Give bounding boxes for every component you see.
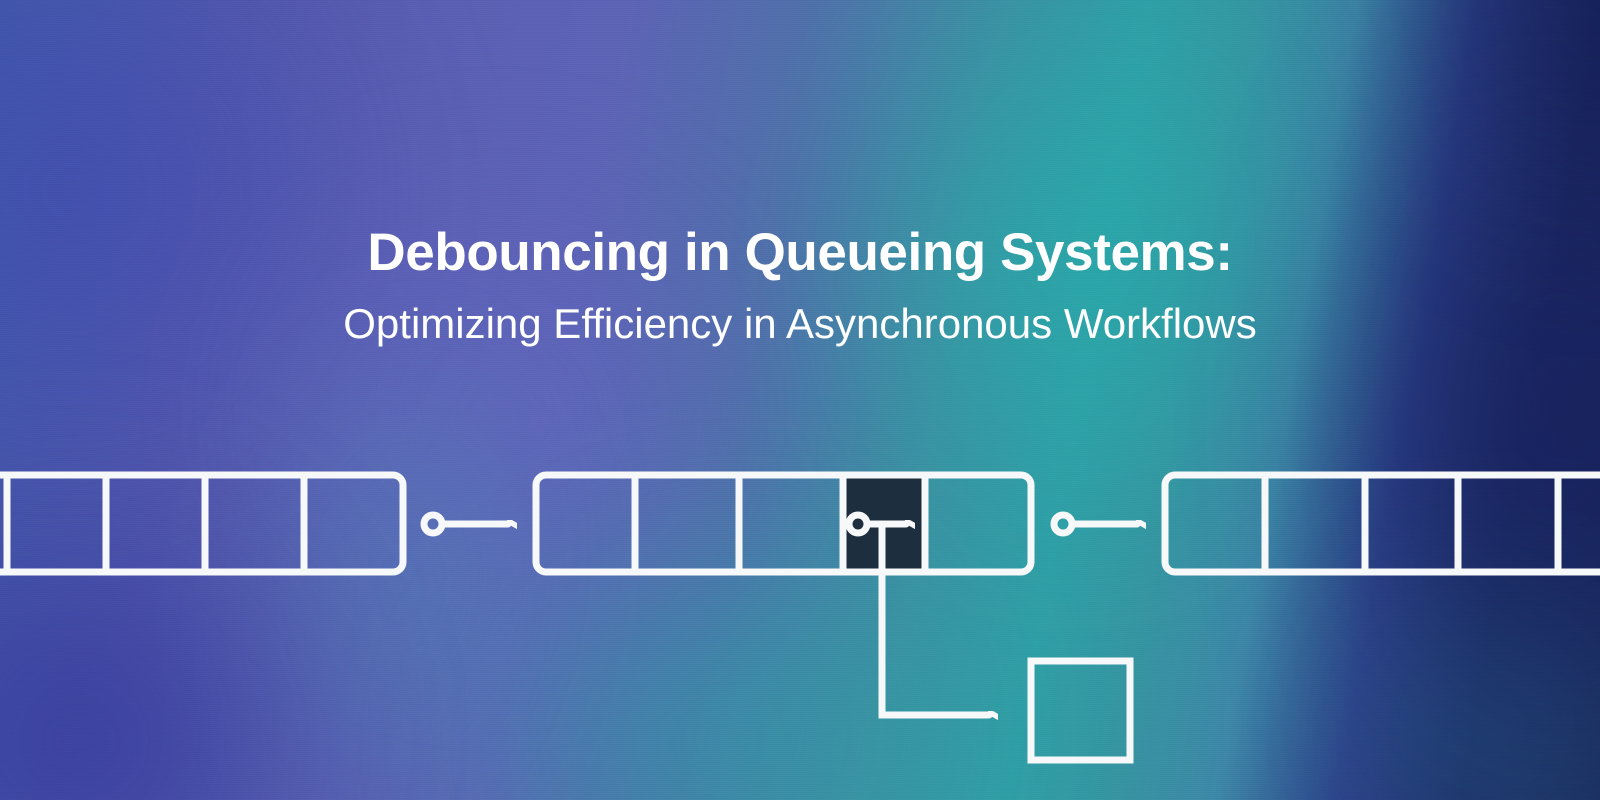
queue-right	[1165, 475, 1600, 572]
queue-right-outline	[1165, 475, 1600, 572]
connector-left-to-middle	[424, 515, 508, 533]
queue-middle	[536, 475, 1031, 572]
banner-canvas: Debouncing in Queueing Systems: Optimizi…	[0, 0, 1600, 800]
queue-middle-outline	[536, 475, 1031, 572]
connector-middle-to-right	[1054, 515, 1137, 533]
queue-pipeline-diagram	[0, 0, 1600, 800]
heading-block: Debouncing in Queueing Systems: Optimizi…	[0, 222, 1600, 349]
page-subtitle: Optimizing Efficiency in Asynchronous Wo…	[0, 299, 1600, 349]
connector-1-circle-icon	[424, 515, 442, 533]
diagram-svg	[0, 0, 1600, 800]
queue-left	[0, 475, 403, 572]
worker-task-box	[1031, 661, 1130, 760]
connector-3-circle-icon	[1054, 515, 1072, 533]
page-title: Debouncing in Queueing Systems:	[0, 222, 1600, 285]
